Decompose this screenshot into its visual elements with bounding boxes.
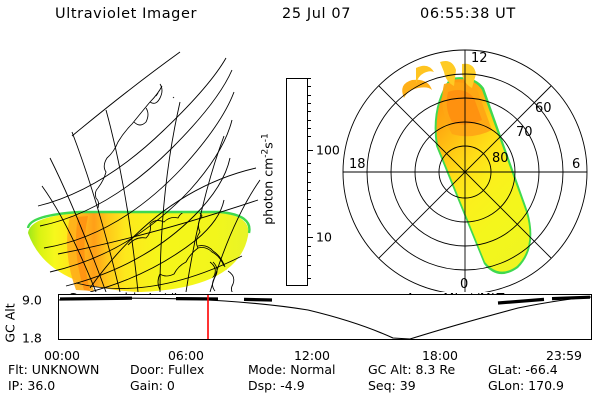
dayglow-region [28, 212, 249, 292]
colorbar-gradient-box [286, 78, 308, 286]
status-ip: IP: 36.0 [8, 378, 55, 393]
orbit-xtick-3: 18:00 [422, 348, 458, 363]
orbit-xtick-1: 06:00 [168, 348, 204, 363]
colorbar-minor-tick-0 [308, 278, 311, 279]
colorbar-minor-tick-2 [308, 255, 311, 256]
observation-time: 06:55:38 UT [420, 6, 516, 22]
colorbar-minor-tick-9 [308, 182, 311, 183]
status-dsp: Dsp: -4.9 [248, 378, 305, 393]
colorbar-minor-tick-18 [308, 86, 311, 87]
orbit-xtick-4: 23:59 [546, 348, 582, 363]
colorbar-minor-tick-7 [308, 199, 311, 200]
colorbar-minor-tick-1 [308, 265, 311, 266]
status-glon: GLon: 170.9 [488, 378, 564, 393]
colorbar-minor-tick-15 [308, 111, 311, 112]
mlt-label-12: 12 [471, 51, 488, 66]
mlat-label-70: 70 [516, 125, 533, 140]
colorbar-axis-label: photon cm-2s-1 [260, 133, 275, 224]
aurora-emission [402, 61, 531, 274]
colorbar-minor-tick-11 [308, 163, 311, 164]
colorbar-tick-1 [308, 237, 313, 238]
status-door: Door: Fullex [130, 362, 204, 377]
status-block: Flt: UNKNOWN IP: 36.0 Door: Fullex Gain:… [0, 362, 600, 398]
status-glat: GLat: -66.4 [488, 362, 558, 377]
apex-polar-grid [343, 50, 587, 292]
colorbar-minor-tick-5 [308, 215, 311, 216]
colorbar-minor-tick-17 [308, 95, 311, 96]
colorbar-minor-tick-6 [308, 207, 311, 208]
status-gcalt: GC Alt: 8.3 Re [368, 362, 455, 377]
header-bar: Ultraviolet Imager 25 Jul 07 06:55:38 UT [0, 6, 600, 30]
orbit-ytick-high: 9.0 [22, 293, 42, 308]
colorbar-minor-tick-3 [308, 246, 311, 247]
status-mode: Mode: Normal [248, 362, 335, 377]
colorbar-minor-tick-14 [308, 120, 311, 121]
mlat-label-80: 80 [492, 151, 509, 166]
instrument-title: Ultraviolet Imager [55, 6, 197, 22]
colorbar-minor-tick-4 [308, 224, 311, 225]
colorbar-tick-label-1: 10 [316, 229, 332, 244]
mlt-label-6: 6 [572, 157, 580, 172]
status-flt: Flt: UNKNOWN [8, 362, 99, 377]
status-seq: Seq: 39 [368, 378, 416, 393]
mlat-label-60: 60 [535, 101, 552, 116]
orbit-track-plot[interactable] [58, 294, 592, 344]
colorbar-minor-tick-8 [308, 190, 311, 191]
colorbar-minor-tick-19 [308, 78, 311, 79]
orbit-ytick-low: 1.8 [22, 331, 42, 346]
colorbar-gradient [287, 79, 307, 285]
observation-date: 25 Jul 07 [282, 6, 351, 22]
colorbar-minor-tick-12 [308, 136, 311, 137]
colorbar-minor-tick-16 [308, 103, 311, 104]
status-gain: Gain: 0 [130, 378, 175, 393]
orbit-altitude-panel: 9.0 1.8 00:00 06:00 12:00 18:00 23:59 [0, 300, 600, 358]
colorbar-tick-0 [308, 150, 313, 151]
apex-plot: 12 6 0 18 60 70 80 [332, 40, 598, 292]
orbit-xtick-0: 00:00 [44, 348, 80, 363]
orbit-xtick-2: 12:00 [294, 348, 330, 363]
geographic-plot [10, 40, 272, 292]
colorbar-minor-tick-10 [308, 172, 311, 173]
mlt-label-18: 18 [349, 157, 366, 172]
colorbar-minor-tick-13 [308, 128, 311, 129]
